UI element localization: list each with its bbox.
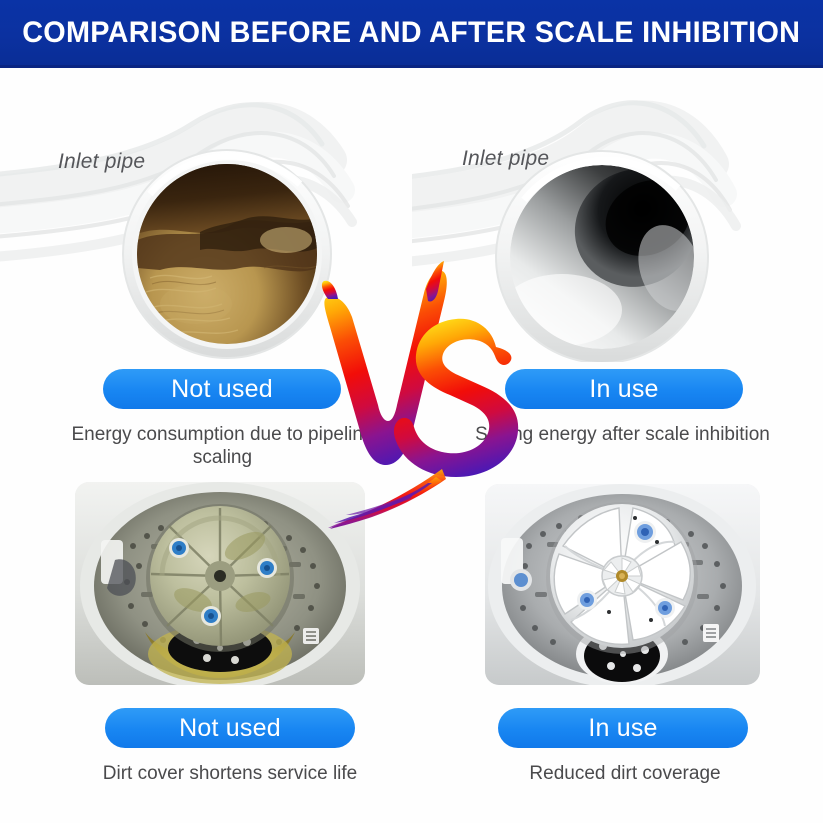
- dirty-washing-machine-drum-icon: [75, 482, 365, 685]
- pipe-comparison-row: Inlet pipe: [0, 72, 823, 362]
- clean-pipe-icon: [412, 72, 823, 362]
- caption-pipes-not-used: Energy consumption due to pipeline scali…: [70, 423, 375, 469]
- pill-pipes-not-used[interactable]: Not used: [103, 369, 341, 409]
- caption-washer-not-used: Dirt cover shortens service life: [60, 762, 400, 785]
- pill-washer-in-use[interactable]: In use: [498, 708, 748, 748]
- caption-pipes-in-use: Saving energy after scale inhibition: [470, 423, 775, 446]
- comparison-poster: COMPARISON BEFORE AND AFTER SCALE INHIBI…: [0, 0, 823, 823]
- clean-washing-machine-drum-icon: [485, 484, 760, 685]
- header-banner: COMPARISON BEFORE AND AFTER SCALE INHIBI…: [0, 0, 823, 68]
- scaled-dirty-pipe-icon: [0, 72, 411, 362]
- caption-washer-in-use: Reduced dirt coverage: [455, 762, 795, 785]
- pipe-label-left: Inlet pipe: [58, 150, 145, 174]
- page-title: COMPARISON BEFORE AND AFTER SCALE INHIBI…: [22, 16, 800, 50]
- pipe-cell-in-use: Inlet pipe: [412, 72, 823, 362]
- pipe-cell-not-used: Inlet pipe: [0, 72, 411, 362]
- washer-photo-in-use: [485, 484, 760, 685]
- pill-pipes-in-use[interactable]: In use: [505, 369, 743, 409]
- pipe-label-right: Inlet pipe: [462, 147, 549, 171]
- washer-photo-not-used: [75, 482, 365, 685]
- pill-washer-not-used[interactable]: Not used: [105, 708, 355, 748]
